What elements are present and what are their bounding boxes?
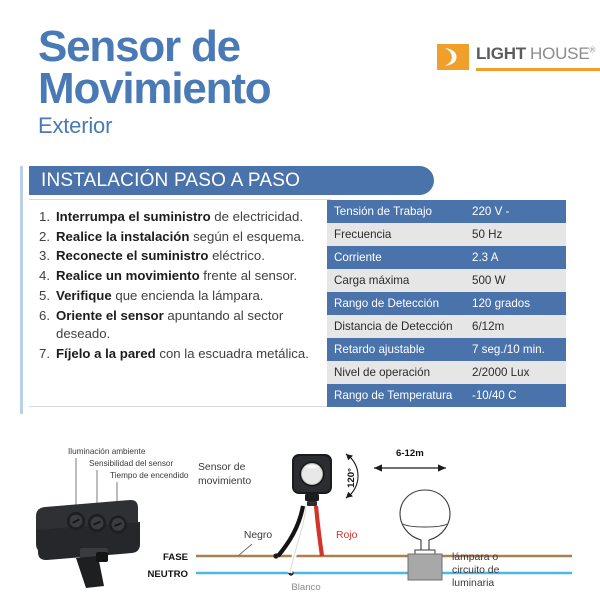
spec-label: Corriente	[327, 246, 460, 269]
spec-value: 2/2000 Lux	[460, 361, 566, 384]
lamp-illustration	[400, 490, 450, 580]
specifications-table: Tensión de Trabajo220 V -Frecuencia50 Hz…	[327, 200, 566, 407]
spec-label: Distancia de Detección	[327, 315, 460, 338]
spec-label: Rango de Detección	[327, 292, 460, 315]
table-row: Retardo ajustable7 seg./10 min.	[327, 338, 566, 361]
step-number: 5.	[39, 287, 50, 306]
spec-label: Nivel de operación	[327, 361, 460, 384]
step-number: 1.	[39, 208, 50, 227]
step-number: 7.	[39, 345, 50, 364]
step-number: 6.	[39, 307, 50, 326]
table-row: Corriente2.3 A	[327, 246, 566, 269]
knob-label-0: Iluminación ambiente	[68, 447, 146, 456]
spec-value: -10/40 C	[460, 384, 566, 407]
steps-card: 1.Interrumpa el suministro de electricid…	[29, 199, 331, 407]
spec-value: 500 W	[460, 269, 566, 292]
step-strong: Fíjelo a la pared	[56, 346, 156, 361]
spec-label: Tensión de Trabajo	[327, 200, 460, 223]
step-strong: Reconecte el suministro	[56, 248, 208, 263]
step-number: 4.	[39, 267, 50, 286]
step-strong: Oriente el sensor	[56, 308, 164, 323]
spec-value: 50 Hz	[460, 223, 566, 246]
step-rest: eléctrico.	[208, 248, 264, 263]
angle-indicator: 120°	[346, 454, 358, 498]
step-rest: con la escuadra metálica.	[156, 346, 309, 361]
knob-label-2: Tiempo de encendido	[110, 471, 189, 480]
step-rest: que encienda la lámpara.	[112, 288, 264, 303]
spec-label: Frecuencia	[327, 223, 460, 246]
table-row: Nivel de operación2/2000 Lux	[327, 361, 566, 384]
lamp-label-line2: circuito de	[452, 565, 500, 576]
wiring-diagram: Iluminación ambiente Sensibilidad del se…	[0, 432, 600, 600]
table-row: Carga máxima500 W	[327, 269, 566, 292]
spec-value: 7 seg./10 min.	[460, 338, 566, 361]
step-item: 3.Reconecte el suministro eléctrico.	[39, 247, 326, 266]
install-header-label: INSTALACIÓN PASO A PASO	[41, 170, 300, 192]
specifications-body: Tensión de Trabajo220 V -Frecuencia50 Hz…	[327, 200, 566, 407]
step-item: 1.Interrumpa el suministro de electricid…	[39, 208, 326, 227]
logo-word-secondary: HOUSE	[530, 44, 589, 63]
lamp-label-line3: luminaria	[452, 578, 494, 589]
table-row: Rango de Detección120 grados	[327, 292, 566, 315]
step-item: 5.Verifique que encienda la lámpara.	[39, 287, 326, 306]
spec-value: 2.3 A	[460, 246, 566, 269]
datasheet-page: Sensor de Movimiento Exterior LIGHTHOUSE…	[0, 0, 600, 600]
logo-word-primary: LIGHT	[476, 44, 526, 63]
step-item: 7.Fíjelo a la pared con la escuadra metá…	[39, 345, 326, 364]
spec-label: Carga máxima	[327, 269, 460, 292]
page-title-line2: Movimiento	[38, 68, 398, 110]
spec-value: 220 V -	[460, 200, 566, 223]
page-subtitle: Exterior	[38, 114, 398, 138]
crescent-moon-icon	[437, 44, 469, 70]
logo-wordmark: LIGHTHOUSE®	[476, 44, 600, 71]
table-row: Frecuencia50 Hz	[327, 223, 566, 246]
angle-label: 120°	[346, 468, 357, 488]
wire-label-black: Negro	[244, 530, 273, 541]
sensor-label-line2: movimiento	[198, 476, 251, 487]
sensor-knobs-illustration	[36, 500, 140, 588]
spec-value: 120 grados	[460, 292, 566, 315]
distance-indicator: 6-12m	[374, 448, 446, 472]
neutro-label: NEUTRO	[147, 569, 188, 580]
step-item: 2.Realice la instalación según el esquem…	[39, 228, 326, 247]
spec-label: Rango de Temperatura	[327, 384, 460, 407]
table-row: Tensión de Trabajo220 V -	[327, 200, 566, 223]
wire-black-leader	[238, 544, 252, 556]
lamp-label-line1: lámpara o	[452, 552, 498, 563]
step-rest: según el esquema.	[189, 229, 304, 244]
distance-label: 6-12m	[396, 448, 424, 459]
step-rest: frente al sensor.	[200, 268, 298, 283]
spec-value: 6/12m	[460, 315, 566, 338]
steps-list: 1.Interrumpa el suministro de electricid…	[29, 200, 330, 364]
step-item: 6.Oriente el sensor apuntando al sector …	[39, 307, 326, 344]
logo-underline	[476, 68, 600, 71]
wire-label-red: Rojo	[336, 530, 358, 541]
step-number: 3.	[39, 247, 50, 266]
mains-lines	[196, 553, 572, 575]
step-rest: de electricidad.	[211, 209, 303, 224]
step-strong: Interrumpa el suministro	[56, 209, 211, 224]
table-row: Distancia de Detección6/12m	[327, 315, 566, 338]
step-number: 2.	[39, 228, 50, 247]
title-block: Sensor de Movimiento Exterior	[38, 26, 398, 138]
step-item: 4.Realice un movimiento frente al sensor…	[39, 267, 326, 286]
sensor-label-line1: Sensor de	[198, 462, 246, 473]
wire-label-white: Blanco	[291, 582, 320, 593]
fase-label: FASE	[163, 552, 189, 563]
step-strong: Realice un movimiento	[56, 268, 200, 283]
table-row: Rango de Temperatura-10/40 C	[327, 384, 566, 407]
page-title: Sensor de Movimiento	[38, 26, 398, 110]
knob-label-1: Sensibilidad del sensor	[89, 459, 173, 468]
sensor-wires	[278, 506, 322, 573]
motion-sensor-illustration	[292, 454, 332, 506]
spec-label: Retardo ajustable	[327, 338, 460, 361]
brand-logo: LIGHTHOUSE®	[437, 44, 600, 71]
step-strong: Verifique	[56, 288, 112, 303]
registered-mark: ®	[589, 46, 595, 55]
step-strong: Realice la instalación	[56, 229, 189, 244]
